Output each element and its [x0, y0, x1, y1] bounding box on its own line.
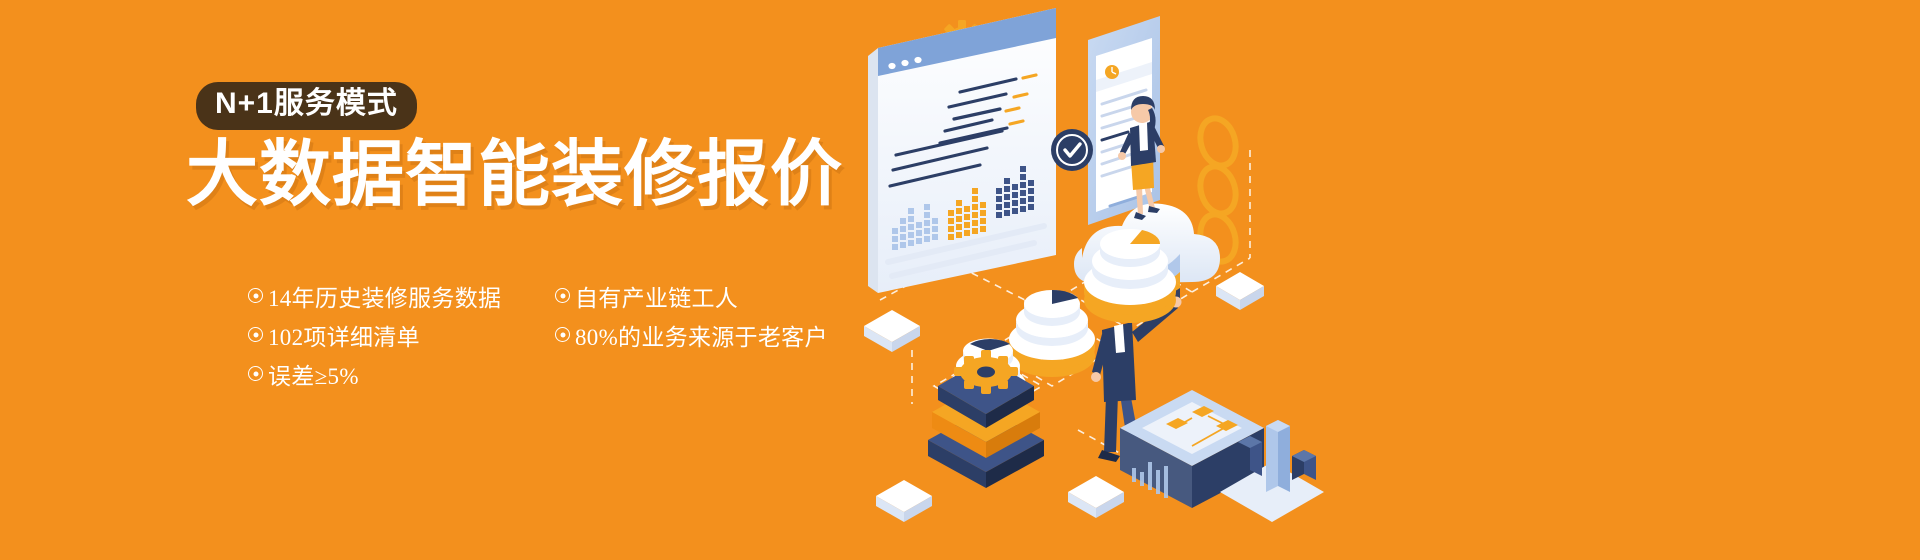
banner-copy: N+1服务模式 大数据智能装修报价 14年历史装修服务数据 102项详细清单 误… — [0, 0, 860, 560]
list-item: 102项详细清单 — [248, 315, 501, 354]
list-item: 误差≥5% — [248, 354, 501, 393]
list-item-label: 14年历史装修服务数据 — [268, 279, 501, 313]
list-item-label: 误差≥5% — [268, 357, 359, 391]
pie-cylinder-medium — [1009, 290, 1095, 377]
isometric-big-data-illustration — [820, 0, 1380, 560]
circled-dot-icon — [248, 327, 263, 342]
feature-list-column-left: 14年历史装修服务数据 102项详细清单 误差≥5% — [248, 276, 501, 393]
feature-list-column-right: 自有产业链工人 80%的业务来源于老客户 — [555, 276, 828, 354]
circled-dot-icon — [248, 366, 263, 381]
list-item: 80%的业务来源于老客户 — [555, 315, 828, 354]
page-title: 大数据智能装修报价 — [186, 133, 843, 218]
check-badge — [1051, 129, 1093, 171]
promo-banner: N+1服务模式 大数据智能装修报价 14年历史装修服务数据 102项详细清单 误… — [0, 0, 1920, 560]
circled-dot-icon — [248, 288, 263, 303]
list-item-label: 80%的业务来源于老客户 — [575, 318, 828, 352]
list-item-label: 自有产业链工人 — [575, 279, 738, 313]
circled-dot-icon — [555, 327, 570, 342]
circled-dot-icon — [555, 288, 570, 303]
list-item-label: 102项详细清单 — [268, 318, 420, 352]
screen-clock-icon — [1105, 65, 1119, 79]
service-model-badge: N+1服务模式 — [196, 82, 417, 130]
list-item: 14年历史装修服务数据 — [248, 276, 501, 315]
browser-window — [868, 8, 1056, 293]
list-item: 自有产业链工人 — [555, 276, 828, 315]
